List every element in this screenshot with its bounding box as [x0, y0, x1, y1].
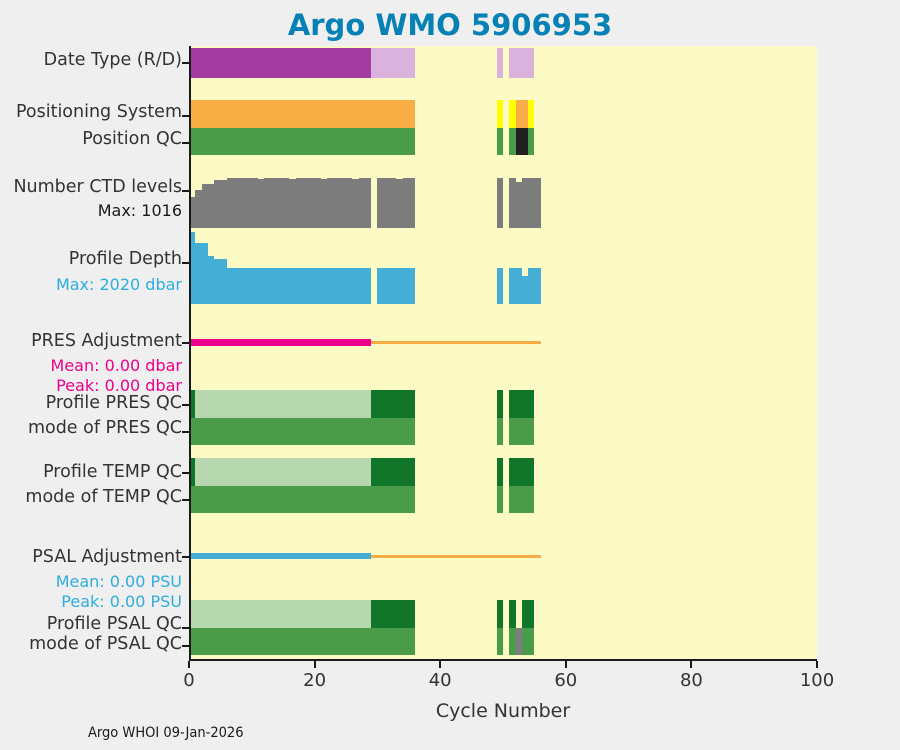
track-number-ctd-levels-bar [497, 178, 503, 228]
track-profile-psal-qc-segment [189, 600, 371, 628]
track-profile-pres-qc-segment [497, 390, 503, 418]
track-number-ctd-levels-bar [403, 178, 416, 228]
track-profile-psal-qc-segment [497, 600, 503, 628]
track-profile-psal-qc-segment [509, 600, 515, 628]
x-tick-label: 40 [410, 670, 470, 691]
track-mode-of-temp-qc-segment [189, 486, 415, 513]
y-tick [182, 499, 189, 501]
track-position-qc-segment [497, 128, 503, 155]
y-tick [182, 404, 189, 406]
x-tick-label: 0 [159, 670, 219, 691]
track-date-type-r-d-segment [189, 48, 371, 78]
track-positioning-system-segment [516, 100, 529, 128]
row-label-profile-pres-qc: Profile PRES QC [46, 395, 182, 413]
row-label-pres-peak: Peak: 0.00 dbar [56, 378, 182, 394]
track-position-qc-segment [189, 128, 415, 155]
row-label-psal-peak: Peak: 0.00 PSU [61, 594, 182, 610]
y-tick [182, 556, 189, 558]
row-label-mode-psal-qc: mode of PSAL QC [29, 636, 182, 654]
row-label-profile-depth: Profile Depth [69, 251, 182, 269]
row-label-pres-mean: Mean: 0.00 dbar [51, 358, 182, 374]
track-pres-adjustment-line [189, 339, 371, 346]
row-label-ctd-levels-max: Max: 1016 [98, 203, 182, 219]
y-tick [182, 431, 189, 433]
track-number-ctd-levels-bar [327, 178, 352, 228]
track-position-qc-segment [528, 128, 534, 155]
track-number-ctd-levels-bar [377, 178, 396, 228]
track-profile-pres-qc-segment [195, 390, 371, 418]
track-profile-depth-bar [377, 268, 415, 304]
row-label-positioning: Positioning System [16, 104, 182, 122]
row-label-profile-psal-qc: Profile PSAL QC [47, 616, 182, 634]
track-pres-adjustment-line [371, 341, 541, 344]
y-tick [182, 115, 189, 117]
track-mode-of-pres-qc-segment [497, 418, 503, 445]
x-tick [565, 661, 567, 668]
x-tick [314, 661, 316, 668]
track-date-type-r-d-segment [497, 48, 503, 78]
track-number-ctd-levels-bar [359, 178, 372, 228]
row-label-psal-adjustment: PSAL Adjustment [32, 549, 182, 567]
track-profile-depth-bar [214, 259, 227, 304]
y-tick [182, 62, 189, 64]
track-profile-temp-qc-segment [195, 458, 371, 486]
row-label-ctd-levels: Number CTD levels [13, 179, 182, 197]
plot-area [189, 46, 817, 661]
row-label-position-qc: Position QC [82, 131, 182, 149]
track-mode-of-psal-qc-segment [497, 628, 503, 655]
y-tick [182, 142, 189, 144]
row-label-profile-temp-qc: Profile TEMP QC [43, 464, 182, 482]
track-number-ctd-levels-bar [227, 178, 258, 228]
track-profile-temp-qc-segment [509, 458, 534, 486]
y-tick [182, 472, 189, 474]
track-date-type-r-d-segment [371, 48, 415, 78]
y-tick [182, 190, 189, 192]
x-tick-label: 80 [661, 670, 721, 691]
track-mode-of-pres-qc-segment [189, 418, 415, 445]
track-positioning-system-segment [528, 100, 534, 128]
row-labels-column: Date Type (R/D)Positioning SystemPositio… [0, 0, 182, 750]
x-tick [690, 661, 692, 668]
row-label-mode-pres-qc: mode of PRES QC [28, 420, 182, 438]
track-profile-depth-bar [195, 243, 208, 304]
y-tick [182, 645, 189, 647]
x-tick [816, 661, 818, 668]
track-positioning-system-segment [497, 100, 503, 128]
y-tick [182, 262, 189, 264]
track-profile-depth-bar [227, 268, 371, 304]
track-mode-of-psal-qc-segment [522, 628, 535, 655]
row-label-pres-adjustment: PRES Adjustment [31, 333, 182, 351]
track-profile-psal-qc-segment [522, 600, 535, 628]
track-position-qc-segment [516, 128, 529, 155]
track-profile-temp-qc-segment [371, 458, 415, 486]
x-tick-label: 20 [285, 670, 345, 691]
track-profile-pres-qc-segment [509, 390, 534, 418]
track-number-ctd-levels-bar [296, 178, 321, 228]
track-number-ctd-levels-bar [202, 184, 215, 228]
y-tick [182, 627, 189, 629]
track-profile-pres-qc-segment [371, 390, 415, 418]
track-number-ctd-levels-bar [522, 178, 541, 228]
x-axis-label: Cycle Number [189, 700, 817, 722]
track-profile-depth-bar [509, 268, 522, 304]
track-mode-of-psal-qc-segment [189, 628, 415, 655]
x-tick [439, 661, 441, 668]
row-label-profile-depth-max: Max: 2020 dbar [56, 277, 182, 293]
track-profile-depth-bar [528, 268, 541, 304]
track-number-ctd-levels-bar [214, 180, 227, 228]
y-tick [182, 342, 189, 344]
credit-text: Argo WHOI 09-Jan-2026 [88, 725, 244, 741]
x-tick-label: 100 [787, 670, 847, 691]
x-tick [188, 661, 190, 668]
row-label-date-type: Date Type (R/D) [44, 52, 182, 70]
track-positioning-system-segment [189, 100, 415, 128]
row-label-mode-temp-qc: mode of TEMP QC [25, 489, 182, 507]
track-profile-temp-qc-segment [497, 458, 503, 486]
track-date-type-r-d-segment [509, 48, 534, 78]
track-psal-adjustment-line [371, 555, 541, 558]
track-psal-adjustment-line [189, 553, 371, 559]
track-mode-of-temp-qc-segment [497, 486, 503, 513]
track-mode-of-temp-qc-segment [509, 486, 534, 513]
track-profile-depth-bar [497, 268, 503, 304]
row-label-psal-mean: Mean: 0.00 PSU [56, 574, 182, 590]
track-number-ctd-levels-bar [264, 178, 289, 228]
track-profile-psal-qc-segment [371, 600, 415, 628]
x-tick-label: 60 [536, 670, 596, 691]
track-mode-of-pres-qc-segment [509, 418, 534, 445]
